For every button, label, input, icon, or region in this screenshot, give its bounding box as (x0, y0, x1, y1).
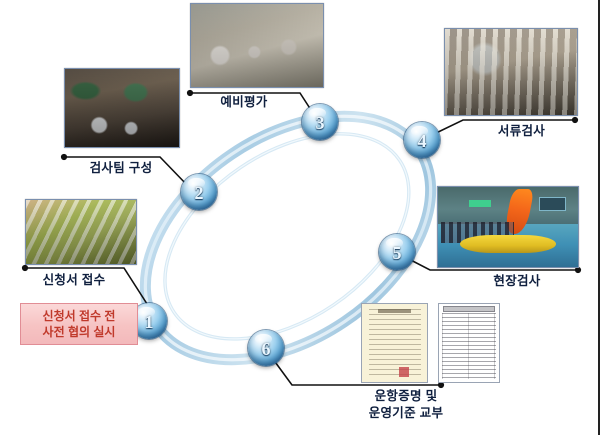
step-caption-6: 운항증명 및 운영기준 교부 (316, 388, 496, 421)
step-caption-1: 신청서 접수 (9, 272, 139, 289)
prior-consultation-note: 신청서 접수 전 사전 협의 실시 (20, 303, 138, 345)
step-caption-3: 예비평가 (184, 94, 304, 111)
step-caption-2: 검사팀 구성 (56, 160, 186, 177)
step-caption-4: 서류검사 (464, 123, 579, 140)
labels-layer: 신청서 접수 신청서 접수 전 사전 협의 실시 검사팀 구성 예비평가 서류검… (0, 0, 600, 435)
process-cycle-diagram: 1 2 3 4 5 6 신청서 접수 신청서 접수 전 사전 협의 실시 검사팀… (0, 0, 600, 435)
step-caption-5: 현장검사 (455, 273, 579, 290)
